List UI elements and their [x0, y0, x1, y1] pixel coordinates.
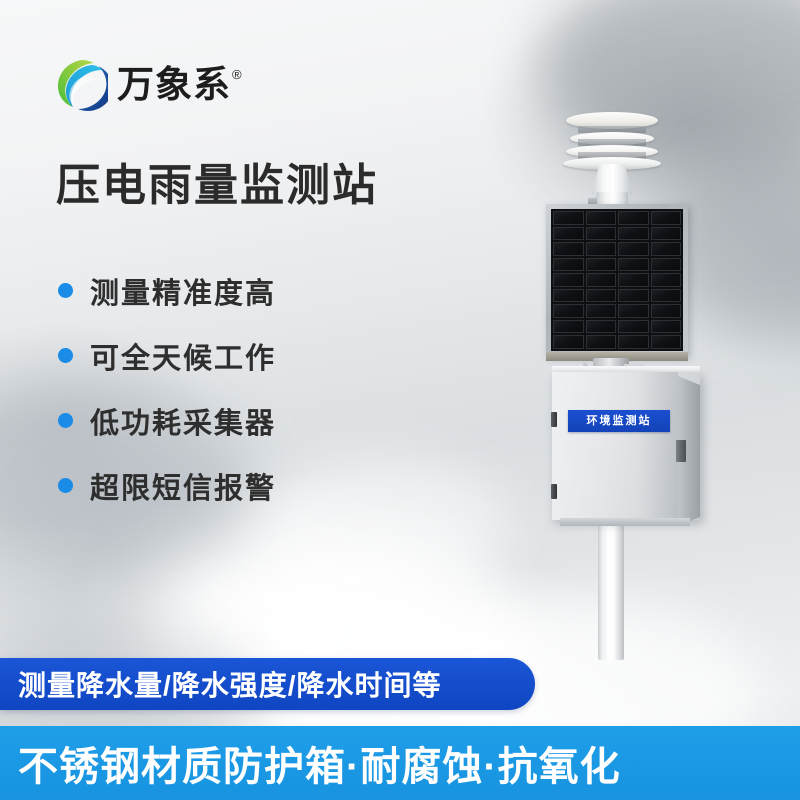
cloud-shape: [250, 455, 510, 595]
bullet-dot-icon: [58, 478, 73, 493]
enclosure-latch-icon: [676, 440, 686, 462]
enclosure-bottom-edge: [560, 518, 690, 526]
bullet-dot-icon: [58, 413, 73, 428]
brand-logo: 万象系 ®: [52, 56, 242, 112]
rain-sensor-head-icon: [566, 112, 658, 192]
measurement-banner: 测量降水量/降水强度/降水时间等: [0, 658, 535, 710]
enclosure-hinge-icon: [551, 484, 557, 499]
product-image: 环境监测站: [490, 100, 790, 660]
brand-name: 万象系: [117, 66, 231, 103]
feature-label: 超限短信报警: [90, 465, 276, 507]
feature-label: 测量精准度高: [90, 270, 276, 312]
feature-label: 可全天候工作: [90, 335, 276, 377]
enclosure-label-text: 环境监测站: [587, 416, 652, 427]
globe-swoosh-logo-icon: [52, 56, 108, 112]
bullet-dot-icon: [58, 283, 73, 298]
enclosure-shading: [638, 372, 678, 520]
list-item: 测量精准度高: [58, 258, 276, 323]
brand-wordmark: 万象系 ®: [117, 66, 242, 103]
trademark-symbol: ®: [232, 68, 242, 81]
measurement-banner-text: 测量降水量/降水强度/降水时间等: [18, 664, 442, 704]
feature-label: 低功耗采集器: [90, 400, 276, 442]
page-title: 压电雨量监测站: [56, 162, 378, 210]
material-banner: 不锈钢材质防护箱·耐腐蚀·抗氧化: [0, 726, 800, 800]
enclosure-hinge-icon: [551, 412, 557, 427]
solar-cell-grid: [551, 209, 683, 351]
list-item: 低功耗采集器: [58, 388, 276, 453]
solar-panel-icon: [546, 204, 688, 356]
product-poster: 万象系 ® 压电雨量监测站 测量精准度高 可全天候工作 低功耗采集器 超限短信报…: [0, 0, 800, 800]
enclosure-label: 环境监测站: [568, 410, 670, 432]
list-item: 超限短信报警: [58, 453, 276, 518]
material-banner-text: 不锈钢材质防护箱·耐腐蚀·抗氧化: [18, 734, 621, 792]
list-item: 可全天候工作: [58, 323, 276, 388]
bullet-dot-icon: [58, 348, 73, 363]
feature-list: 测量精准度高 可全天候工作 低功耗采集器 超限短信报警: [58, 258, 276, 518]
